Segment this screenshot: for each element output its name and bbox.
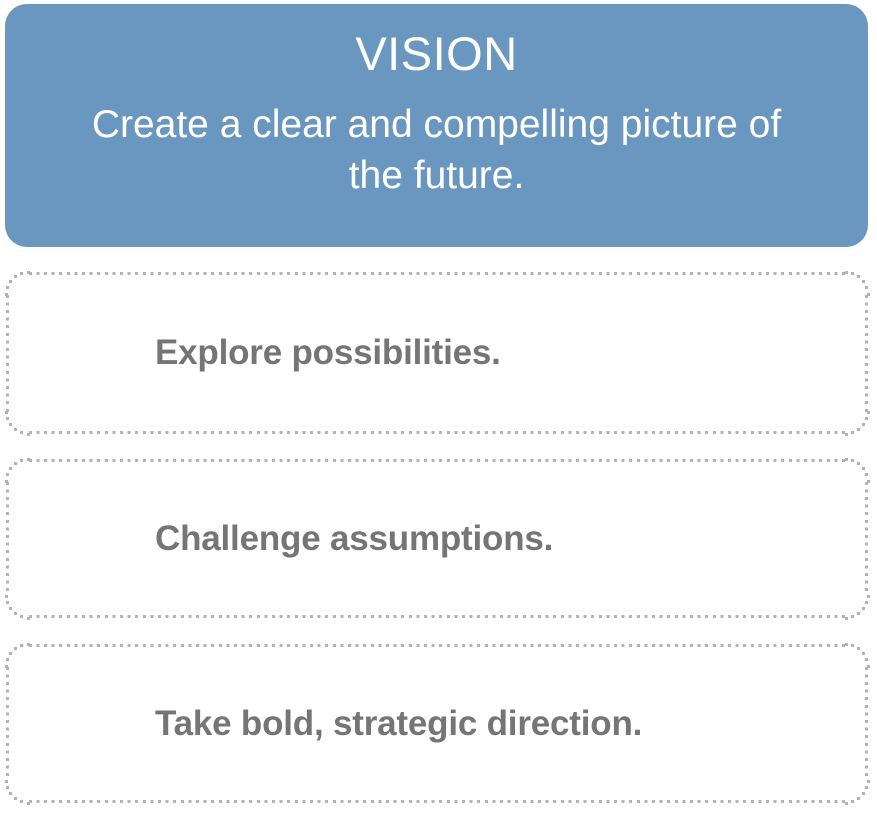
corner-mask bbox=[6, 596, 28, 618]
list-item-content: Explore possibilities. bbox=[6, 332, 868, 374]
corner-mask bbox=[846, 272, 868, 294]
corner-mask bbox=[846, 644, 868, 666]
corner-mask bbox=[846, 781, 868, 803]
corner-mask bbox=[846, 459, 868, 481]
list-item-label: Take bold, strategic direction. bbox=[155, 703, 868, 745]
page-title: VISION bbox=[355, 30, 517, 77]
list-item-label: Challenge assumptions. bbox=[155, 518, 868, 560]
list-item[interactable]: Take bold, strategic direction. bbox=[6, 644, 868, 803]
list-item-label: Explore possibilities. bbox=[155, 332, 868, 374]
corner-mask bbox=[6, 644, 28, 666]
vision-card-canvas: VISION Create a clear and compelling pic… bbox=[0, 0, 877, 813]
list-item[interactable]: Explore possibilities. bbox=[6, 272, 868, 434]
corner-mask bbox=[6, 781, 28, 803]
corner-mask bbox=[846, 596, 868, 618]
list-item-content: Challenge assumptions. bbox=[6, 518, 868, 560]
corner-mask bbox=[846, 412, 868, 434]
list-item-content: Take bold, strategic direction. bbox=[6, 703, 868, 745]
vision-header-card: VISION Create a clear and compelling pic… bbox=[5, 4, 868, 247]
corner-mask bbox=[6, 272, 28, 294]
corner-mask bbox=[6, 412, 28, 434]
page-subtitle: Create a clear and compelling picture of… bbox=[87, 99, 787, 202]
list-item[interactable]: Challenge assumptions. bbox=[6, 459, 868, 618]
corner-mask bbox=[6, 459, 28, 481]
